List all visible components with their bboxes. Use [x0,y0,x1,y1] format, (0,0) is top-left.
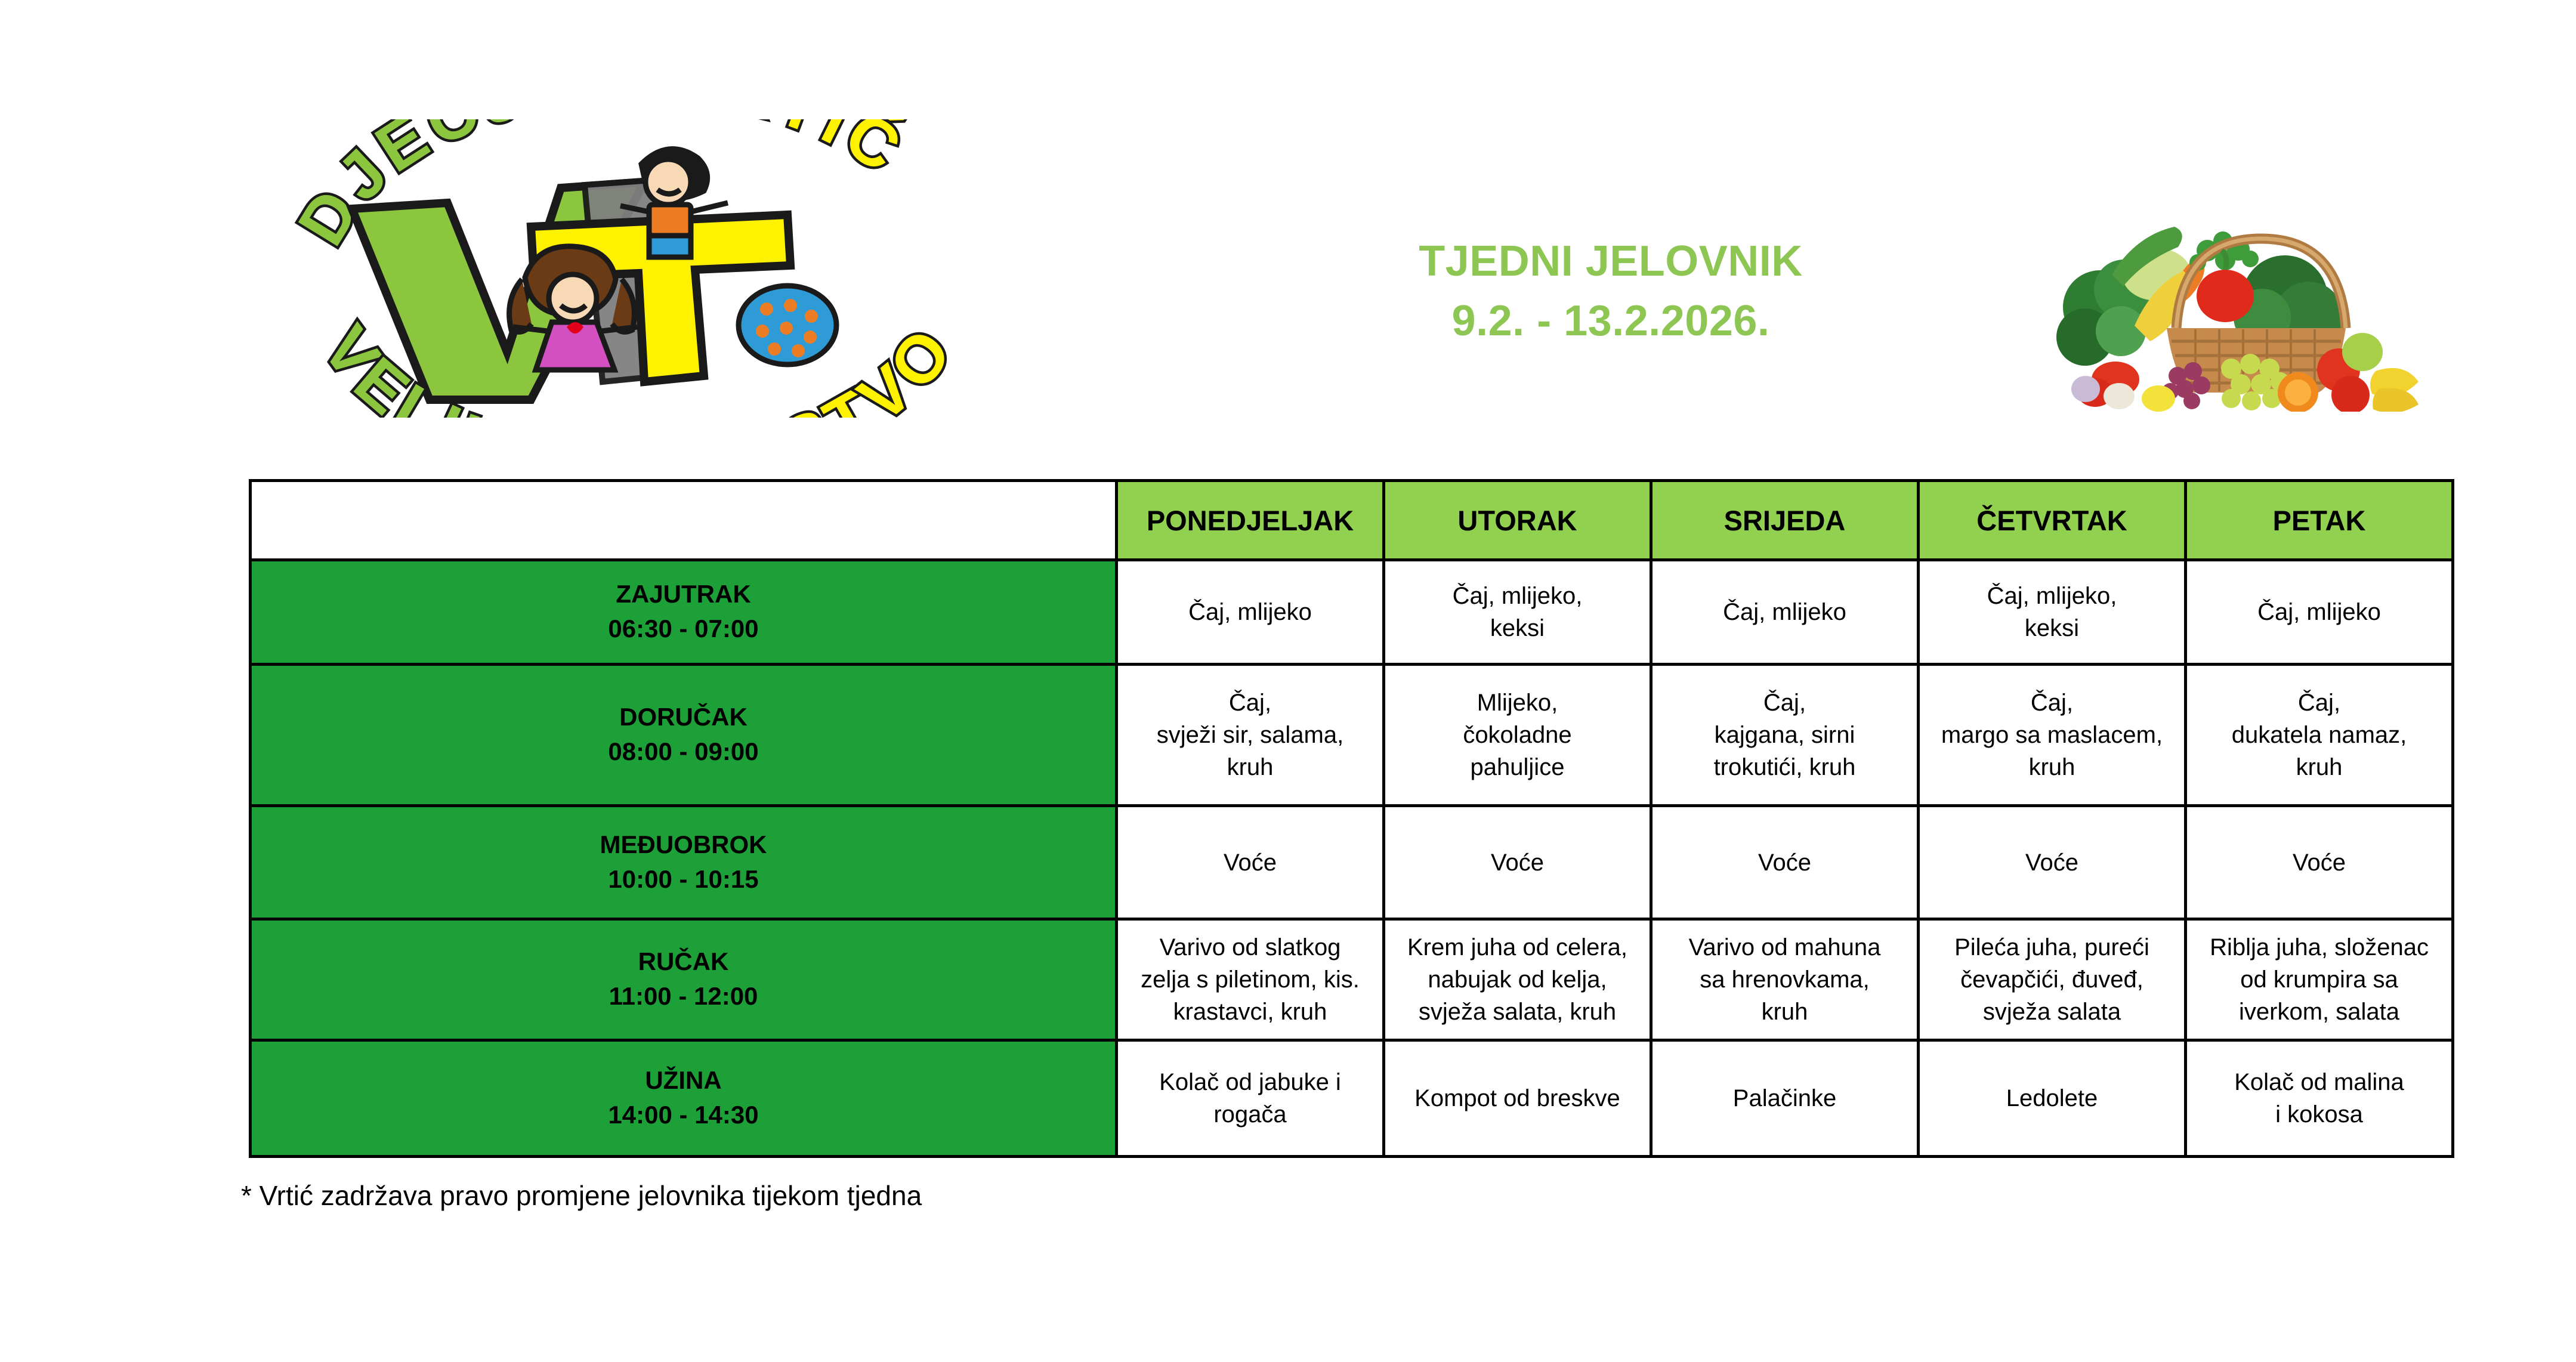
menu-text: Krem juha od celera,nabujak od kelja,svj… [1385,929,1650,1030]
meal-time: 10:00 - 10:15 [252,861,1115,897]
menu-cell-zajutrak-friday: Čaj, mlijeko [2186,560,2453,665]
meal-label-rucak: RUČAK 11:00 - 12:00 [251,919,1117,1040]
menu-cell-uzina-friday: Kolač od malinai kokosa [2186,1040,2453,1157]
menu-text: Palačinke [1653,1080,1917,1117]
menu-text: Čaj, mlijeko [1653,594,1917,631]
menu-text: Kolač od malinai kokosa [2187,1064,2451,1133]
table-row-dorucak: DORUČAK 08:00 - 09:00 Čaj,svježi sir, sa… [251,665,2453,806]
menu-text: Voće [2187,844,2451,881]
weekly-menu-table: PONEDJELJAK UTORAK SRIJEDA ČETVRTAK PETA… [249,479,2454,1158]
meal-time: 06:30 - 07:00 [252,611,1115,647]
corner-blank-cell [251,481,1117,560]
page-title: TJEDNI JELOVNIK 9.2. - 13.2.2026. [1360,231,1861,351]
meal-name: RUČAK [252,945,1115,978]
meal-name: MEĐUOBROK [252,828,1115,861]
table-header-row: PONEDJELJAK UTORAK SRIJEDA ČETVRTAK PETA… [251,481,2453,560]
menu-cell-rucak-tuesday: Krem juha od celera,nabujak od kelja,svj… [1384,919,1651,1040]
menu-cell-dorucak-friday: Čaj,dukatela namaz,kruh [2186,665,2453,806]
meal-name: UŽINA [252,1064,1115,1097]
menu-cell-rucak-thursday: Pileća juha, purećičevapčići, đuveđ,svje… [1919,919,2186,1040]
table-row-uzina: UŽINA 14:00 - 14:30 Kolač od jabuke irog… [251,1040,2453,1157]
menu-text: Kompot od breskve [1385,1080,1650,1117]
menu-cell-zajutrak-tuesday: Čaj, mlijeko,keksi [1384,560,1651,665]
menu-text: Varivo od mahunasa hrenovkama,kruh [1653,929,1917,1030]
menu-text: Čaj,svježi sir, salama,kruh [1118,684,1382,786]
day-header-thursday: ČETVRTAK [1919,481,2186,560]
title-line-2: 9.2. - 13.2.2026. [1360,291,1861,351]
menu-text: Čaj,dukatela namaz,kruh [2187,684,2451,786]
menu-text: Čaj, mlijeko [2187,594,2451,631]
menu-text: Ledolete [1920,1080,2184,1117]
menu-cell-meduobrok-wednesday: Voće [1651,806,1919,919]
meal-label-zajutrak: ZAJUTRAK 06:30 - 07:00 [251,560,1117,665]
menu-cell-zajutrak-thursday: Čaj, mlijeko,keksi [1919,560,2186,665]
fruit-vegetable-basket-photo [2028,179,2422,412]
meal-label-dorucak: DORUČAK 08:00 - 09:00 [251,665,1117,806]
meal-name: ZAJUTRAK [252,577,1115,611]
menu-text: Pileća juha, purećičevapčići, đuveđ,svje… [1920,929,2184,1030]
day-header-label: UTORAK [1385,504,1650,537]
menu-cell-dorucak-thursday: Čaj,margo sa maslacem,kruh [1919,665,2186,806]
menu-cell-zajutrak-monday: Čaj, mlijeko [1117,560,1384,665]
table-row-zajutrak: ZAJUTRAK 06:30 - 07:00 Čaj, mlijeko Čaj,… [251,560,2453,665]
menu-text: Čaj, mlijeko,keksi [1920,577,2184,647]
menu-text: Varivo od slatkogzelja s piletinom, kis.… [1118,929,1382,1030]
menu-cell-rucak-friday: Riblja juha, složenacod krumpira saiverk… [2186,919,2453,1040]
day-header-monday: PONEDJELJAK [1117,481,1384,560]
day-header-friday: PETAK [2186,481,2453,560]
menu-cell-dorucak-monday: Čaj,svježi sir, salama,kruh [1117,665,1384,806]
menu-cell-uzina-monday: Kolač od jabuke irogača [1117,1040,1384,1157]
day-header-label: PETAK [2187,504,2451,537]
menu-text: Čaj,margo sa maslacem,kruh [1920,684,2184,786]
kindergarten-logo: DJEČJI VRTIĆ [251,119,1026,418]
menu-text: Voće [1653,844,1917,881]
menu-cell-uzina-wednesday: Palačinke [1651,1040,1919,1157]
menu-text: Mlijeko,čokoladnepahuljice [1385,684,1650,786]
meal-time: 08:00 - 09:00 [252,734,1115,770]
day-header-label: SRIJEDA [1653,504,1917,537]
menu-cell-rucak-wednesday: Varivo od mahunasa hrenovkama,kruh [1651,919,1919,1040]
meal-time: 14:00 - 14:30 [252,1097,1115,1133]
table-row-meduobrok: MEĐUOBROK 10:00 - 10:15 Voće Voće Voće V… [251,806,2453,919]
meal-label-meduobrok: MEĐUOBROK 10:00 - 10:15 [251,806,1117,919]
menu-cell-dorucak-wednesday: Čaj,kajgana, sirnitrokutići, kruh [1651,665,1919,806]
menu-text: Voće [1920,844,2184,881]
menu-text: Čaj, mlijeko,keksi [1385,577,1650,647]
day-header-wednesday: SRIJEDA [1651,481,1919,560]
menu-cell-zajutrak-wednesday: Čaj, mlijeko [1651,560,1919,665]
day-header-label: PONEDJELJAK [1118,504,1382,537]
meal-name: DORUČAK [252,700,1115,734]
menu-text: Čaj,kajgana, sirnitrokutići, kruh [1653,684,1917,786]
menu-change-disclaimer: * Vrtić zadržava pravo promjene jelovnik… [241,1179,922,1212]
page-header: DJEČJI VRTIĆ [0,0,2576,465]
menu-cell-rucak-monday: Varivo od slatkogzelja s piletinom, kis.… [1117,919,1384,1040]
table-row-rucak: RUČAK 11:00 - 12:00 Varivo od slatkogzel… [251,919,2453,1040]
title-line-1: TJEDNI JELOVNIK [1360,231,1861,291]
menu-cell-uzina-thursday: Ledolete [1919,1040,2186,1157]
menu-text: Voće [1385,844,1650,881]
menu-cell-uzina-tuesday: Kompot od breskve [1384,1040,1651,1157]
day-header-label: ČETVRTAK [1920,504,2184,537]
menu-cell-dorucak-tuesday: Mlijeko,čokoladnepahuljice [1384,665,1651,806]
menu-text: Čaj, mlijeko [1118,594,1382,631]
menu-cell-meduobrok-thursday: Voće [1919,806,2186,919]
menu-cell-meduobrok-friday: Voće [2186,806,2453,919]
meal-label-uzina: UŽINA 14:00 - 14:30 [251,1040,1117,1157]
menu-text: Kolač od jabuke irogača [1118,1064,1382,1133]
menu-cell-meduobrok-monday: Voće [1117,806,1384,919]
meal-time: 11:00 - 12:00 [252,978,1115,1014]
menu-text: Riblja juha, složenacod krumpira saiverk… [2187,929,2451,1030]
day-header-tuesday: UTORAK [1384,481,1651,560]
menu-cell-meduobrok-tuesday: Voće [1384,806,1651,919]
menu-text: Voće [1118,844,1382,881]
